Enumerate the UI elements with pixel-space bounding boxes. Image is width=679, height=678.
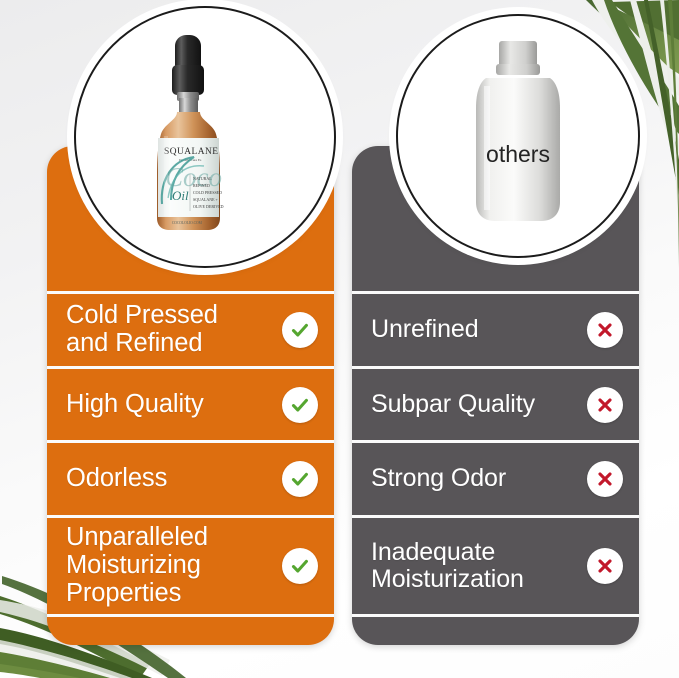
bad-row-0[interactable]: Unrefined xyxy=(352,291,639,366)
svg-text:SQUALANE +: SQUALANE + xyxy=(193,197,219,202)
svg-text:Oil: Oil xyxy=(172,188,189,203)
svg-text:REFINED: REFINED xyxy=(193,183,210,188)
good-row-1[interactable]: High Quality xyxy=(47,366,334,440)
cross-circle-icon xyxy=(587,548,623,584)
product-image-good: SQUALANE De Arte Cure Es Coco Oil NATURA… xyxy=(74,6,336,268)
check-circle-icon xyxy=(282,548,318,584)
good-row-0[interactable]: Cold Pressed and Refined xyxy=(47,291,334,366)
good-footer-strip xyxy=(47,614,334,648)
good-row-label-0: Cold Pressed and Refined xyxy=(66,302,218,358)
svg-text:NATURAL: NATURAL xyxy=(193,176,212,181)
bad-row-label-2: Strong Odor xyxy=(371,465,506,492)
cross-circle-icon xyxy=(587,312,623,348)
bad-row-2[interactable]: Strong Odor xyxy=(352,440,639,515)
good-row-3[interactable]: Unparalleled Moisturizing Properties xyxy=(47,515,334,614)
svg-text:COLD PRESSED: COLD PRESSED xyxy=(193,190,222,195)
check-circle-icon xyxy=(282,461,318,497)
check-circle-icon xyxy=(282,312,318,348)
good-row-label-3: Unparalleled Moisturizing Properties xyxy=(66,524,208,607)
bad-row-3[interactable]: Inadequate Moisturization xyxy=(352,515,639,614)
svg-text:OLIVE DERIVED: OLIVE DERIVED xyxy=(193,204,224,209)
bad-row-label-0: Unrefined xyxy=(371,316,479,343)
bad-row-label-1: Subpar Quality xyxy=(371,391,535,418)
bad-row-label-3: Inadequate Moisturization xyxy=(371,539,524,594)
bad-rows-container: Unrefined Subpar Quality Strong Odor Ina… xyxy=(352,291,639,645)
dropper-bottle-icon: SQUALANE De Arte Cure Es Coco Oil NATURA… xyxy=(76,8,334,266)
product-image-bad: others xyxy=(396,14,640,258)
good-row-2[interactable]: Odorless xyxy=(47,440,334,515)
cross-circle-icon xyxy=(587,461,623,497)
good-row-label-1: High Quality xyxy=(66,391,204,419)
bad-footer-strip xyxy=(352,614,639,648)
svg-text:COCOLOLIO.COM: COCOLOLIO.COM xyxy=(172,221,203,225)
cross-circle-icon xyxy=(587,387,623,423)
others-label: others xyxy=(486,141,550,167)
bad-row-1[interactable]: Subpar Quality xyxy=(352,366,639,440)
good-rows-container: Cold Pressed and Refined High Quality Od… xyxy=(47,291,334,645)
svg-text:SQUALANE: SQUALANE xyxy=(164,147,219,157)
good-row-label-2: Odorless xyxy=(66,465,167,493)
plain-bottle-icon: others xyxy=(398,16,638,256)
comparison-infographic: Cold Pressed and Refined High Quality Od… xyxy=(0,0,679,678)
check-circle-icon xyxy=(282,387,318,423)
